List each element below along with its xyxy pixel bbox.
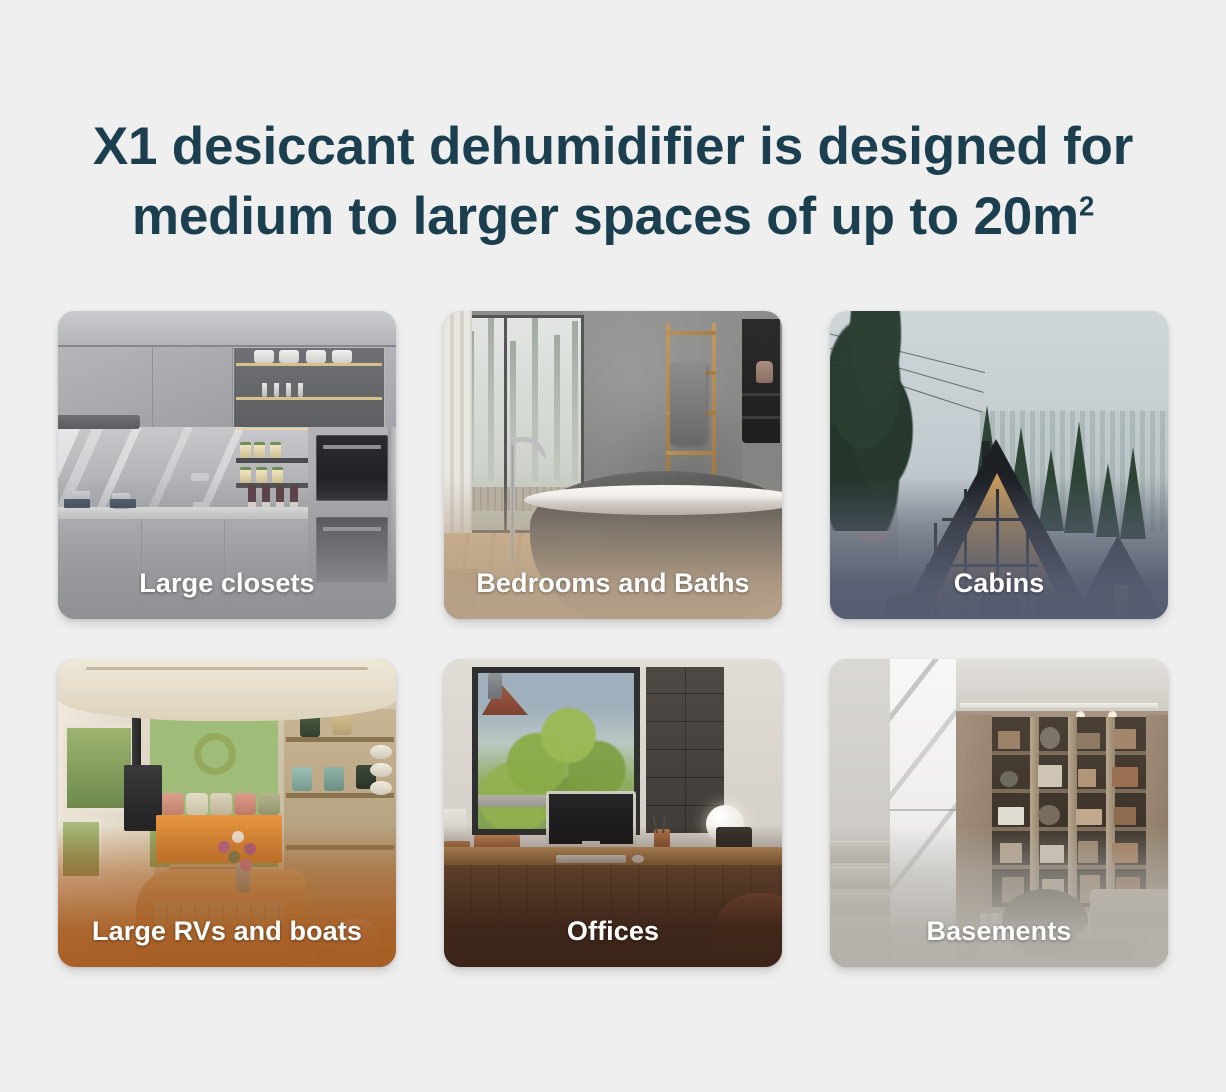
use-case-card-grid: Large closets [58, 311, 1168, 967]
use-case-card-basements[interactable]: Basements [830, 659, 1168, 967]
headline-superscript: 2 [1079, 191, 1094, 222]
card-label: Basements [830, 916, 1168, 947]
promo-page: X1 desiccant dehumidifier is designed fo… [0, 0, 1226, 1092]
use-case-card-large-rvs-and-boats[interactable]: Large RVs and boats [58, 659, 396, 967]
page-title: X1 desiccant dehumidifier is designed fo… [0, 112, 1226, 253]
use-case-card-cabins[interactable]: Cabins [830, 311, 1168, 619]
headline-line-1: X1 desiccant dehumidifier is designed fo… [93, 117, 1133, 176]
card-label: Bedrooms and Baths [444, 568, 782, 599]
use-case-card-bedrooms-and-baths[interactable]: Bedrooms and Baths [444, 311, 782, 619]
use-case-card-large-closets[interactable]: Large closets [58, 311, 396, 619]
headline-line-2: medium to larger spaces of up to 20m [132, 187, 1079, 246]
card-label: Offices [444, 916, 782, 947]
use-case-card-offices[interactable]: Offices [444, 659, 782, 967]
card-label: Cabins [830, 568, 1168, 599]
card-label: Large RVs and boats [58, 916, 396, 947]
card-label: Large closets [58, 568, 396, 599]
